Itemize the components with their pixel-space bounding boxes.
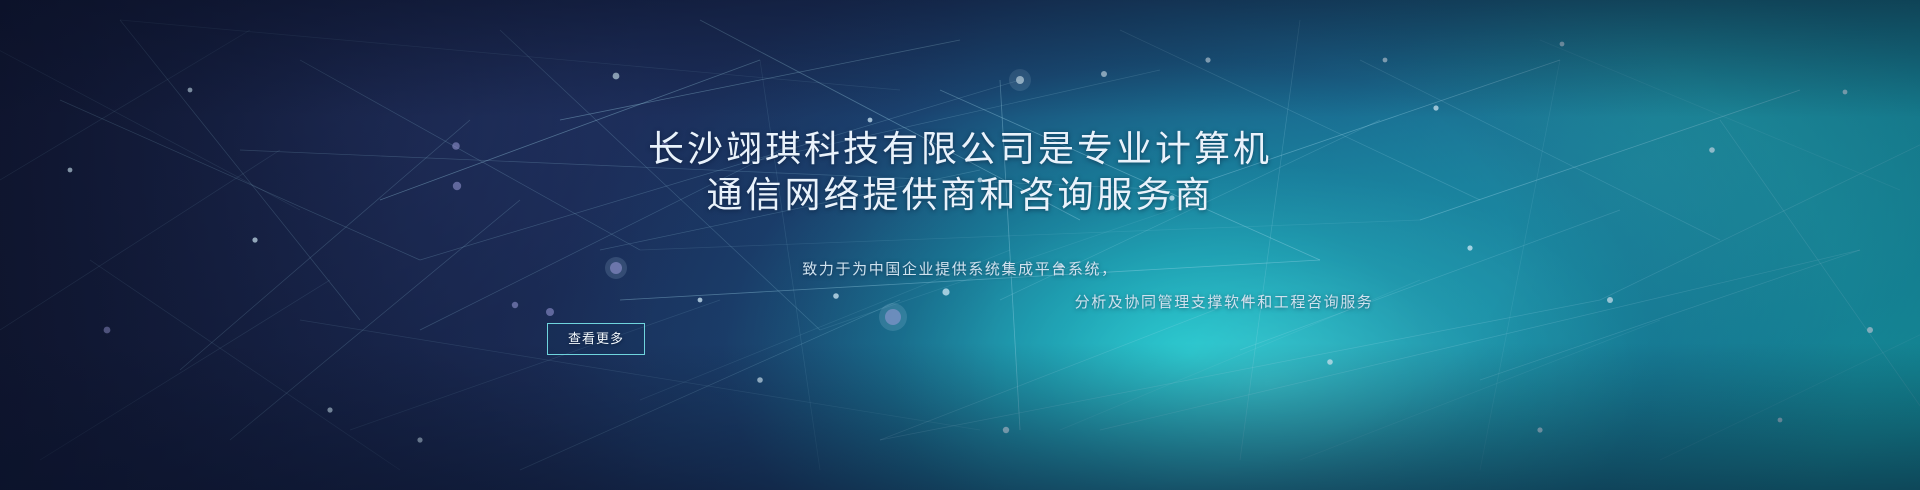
banner-headline: 长沙翊琪科技有限公司是专业计算机 通信网络提供商和咨询服务商 [0, 126, 1920, 218]
banner-content: 长沙翊琪科技有限公司是专业计算机 通信网络提供商和咨询服务商 致力于为中国企业提… [0, 0, 1920, 490]
headline-line-1: 长沙翊琪科技有限公司是专业计算机 [0, 126, 1920, 172]
banner-subtitle-line-1: 致力于为中国企业提供系统集成平台系统， [0, 258, 1920, 279]
headline-line-2: 通信网络提供商和咨询服务商 [0, 172, 1920, 218]
hero-banner: 长沙翊琪科技有限公司是专业计算机 通信网络提供商和咨询服务商 致力于为中国企业提… [0, 0, 1920, 490]
view-more-button[interactable]: 查看更多 [547, 323, 645, 355]
banner-subtitle-line-2: 分析及协同管理支撑软件和工程咨询服务 [0, 291, 1920, 312]
